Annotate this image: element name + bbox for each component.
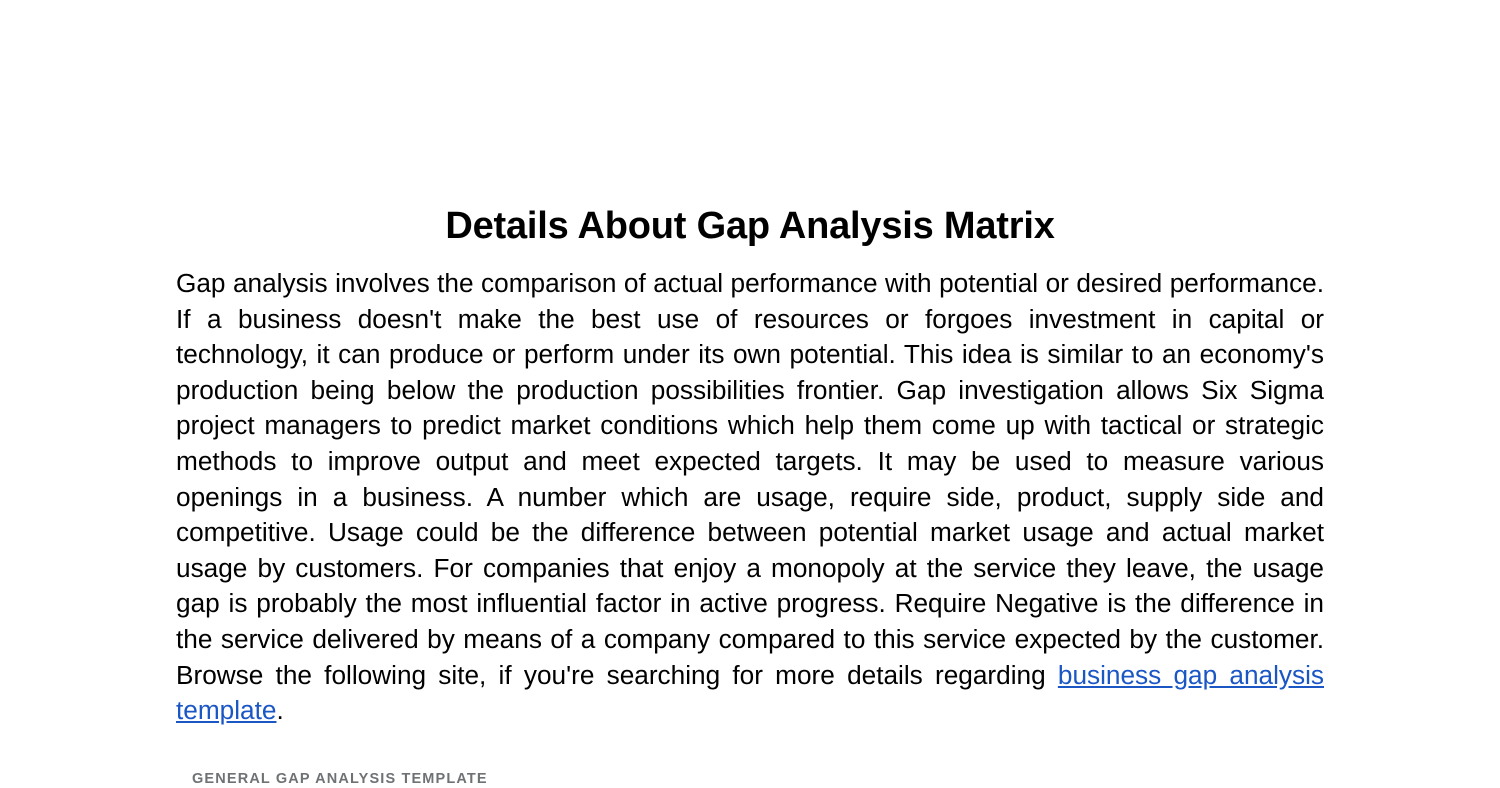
body-text-block: Gap analysis involves the comparison of …	[176, 266, 1324, 729]
section-heading-general-gap-analysis-template: GENERAL GAP ANALYSIS TEMPLATE	[192, 770, 488, 788]
paragraph-text-leading: Gap analysis involves the comparison of …	[176, 268, 1324, 690]
document-page: Details About Gap Analysis Matrix Gap an…	[0, 0, 1500, 785]
page-title: Details About Gap Analysis Matrix	[176, 201, 1324, 251]
paragraph-text-trailing: .	[276, 695, 283, 725]
body-paragraph: Gap analysis involves the comparison of …	[176, 266, 1324, 729]
